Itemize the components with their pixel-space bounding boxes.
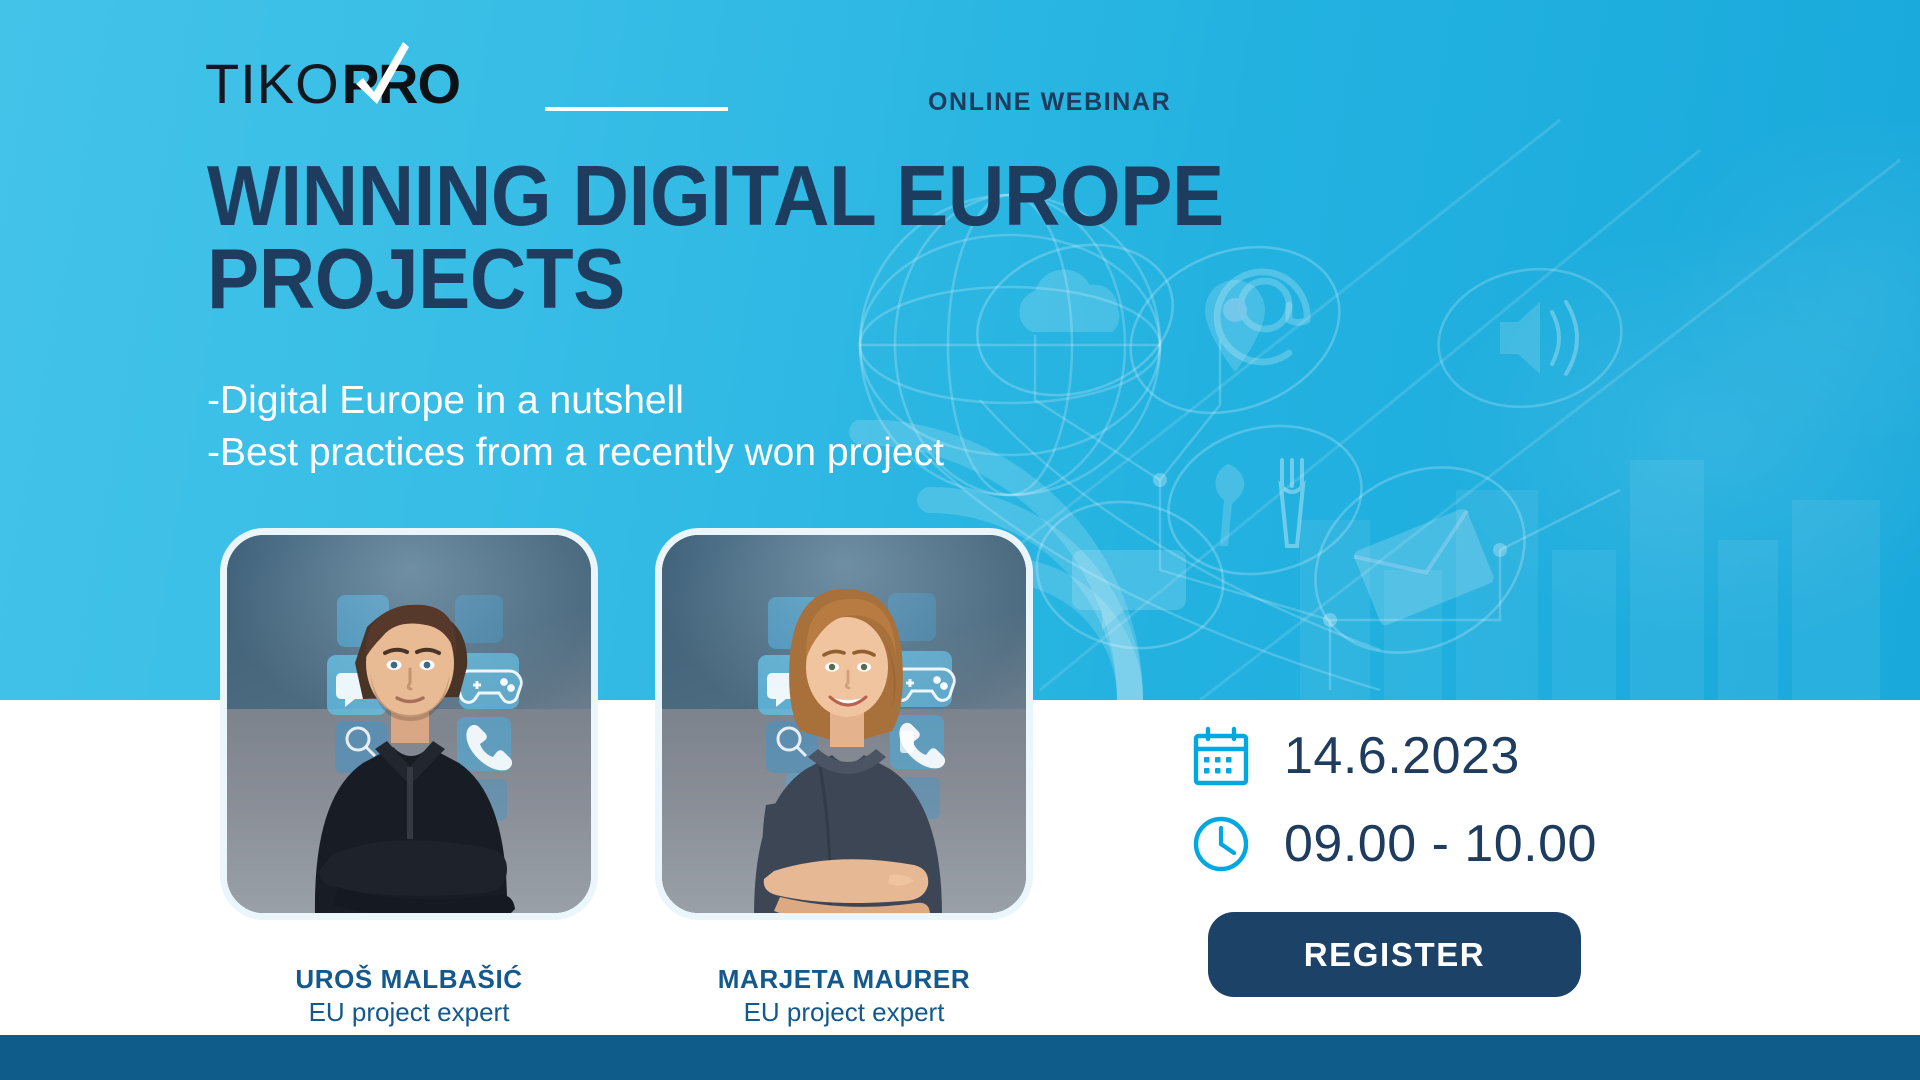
- logo-text-tiko: TIKO: [205, 51, 340, 116]
- event-date: 14.6.2023: [1284, 730, 1520, 782]
- portrait-marjeta-maurer: [662, 535, 1026, 913]
- speaker-role: EU project expert: [199, 996, 619, 1029]
- webinar-poster: TIKO PRO ONLINE WEBINAR WINNING DIGITAL …: [0, 0, 1920, 1080]
- event-date-row: 14.6.2023: [1190, 718, 1810, 794]
- header-divider: [545, 107, 728, 111]
- footer-bar: [0, 1035, 1920, 1080]
- speaker-photo-2-inner: [662, 535, 1026, 913]
- node-speaker-icon: [1420, 250, 1640, 430]
- clock-icon: [1190, 813, 1252, 875]
- agenda-item: -Digital Europe in a nutshell: [207, 375, 1357, 427]
- portrait-uros-malbasic: [227, 535, 591, 913]
- node-chat-icon: [1020, 480, 1240, 670]
- skyline-silhouette: [1280, 430, 1920, 700]
- speaker-photo-1: [220, 528, 598, 920]
- header: TIKO PRO ONLINE WEBINAR: [0, 0, 1920, 150]
- speaker-name: UROŠ MALBAŠIĆ: [199, 964, 619, 996]
- agenda-item: -Best practices from a recently won proj…: [207, 427, 1357, 479]
- speaker-photo-2: [655, 528, 1033, 920]
- node-envelope-icon: [1290, 450, 1550, 680]
- register-button-label: REGISTER: [1304, 936, 1486, 974]
- calendar-icon: [1190, 725, 1252, 787]
- event-time: 09.00 - 10.00: [1284, 818, 1597, 870]
- speaker-caption-2: MARJETA MAURER EU project expert: [634, 964, 1054, 1028]
- headline-line-1: WINNING DIGITAL EUROPE: [207, 155, 1403, 238]
- event-time-row: 09.00 - 10.00: [1190, 806, 1810, 882]
- event-info: 14.6.2023 09.00 - 10.00: [1190, 718, 1810, 882]
- register-button[interactable]: REGISTER: [1208, 912, 1581, 997]
- eyebrow-label: ONLINE WEBINAR: [928, 88, 1171, 117]
- checkmark-icon: [343, 38, 413, 110]
- agenda-list: -Digital Europe in a nutshell -Best prac…: [207, 375, 1357, 479]
- page-title: WINNING DIGITAL EUROPE PROJECTS: [207, 155, 1403, 322]
- speaker-role: EU project expert: [634, 996, 1054, 1029]
- headline-line-2: PROJECTS: [207, 238, 1403, 321]
- speaker-name: MARJETA MAURER: [634, 964, 1054, 996]
- brand-logo[interactable]: TIKO PRO: [205, 52, 460, 114]
- speaker-photo-1-inner: [227, 535, 591, 913]
- speaker-caption-1: UROŠ MALBAŠIĆ EU project expert: [199, 964, 619, 1028]
